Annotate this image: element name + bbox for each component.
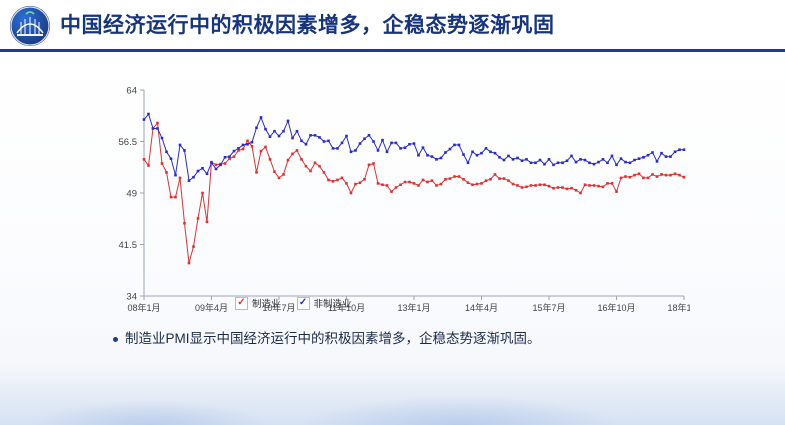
svg-text:13年1月: 13年1月 bbox=[397, 302, 430, 313]
svg-text:64: 64 bbox=[126, 86, 137, 97]
decorative-gradient bbox=[0, 365, 785, 425]
chart-legend: ✓ 制造业 ✓ 非制造业 bbox=[235, 296, 352, 310]
svg-text:16年10月: 16年10月 bbox=[597, 302, 635, 313]
bullet-row: 制造业PMI显示中国经济运行中的积极因素增多，企稳态势逐渐巩固。 bbox=[113, 330, 733, 349]
svg-text:56.5: 56.5 bbox=[119, 137, 138, 148]
svg-text:14年4月: 14年4月 bbox=[465, 302, 498, 313]
svg-text:18年1月: 18年1月 bbox=[667, 302, 690, 313]
legend-label-nonmanufacturing: 非制造业 bbox=[314, 296, 352, 310]
legend-label-manufacturing: 制造业 bbox=[252, 296, 281, 310]
svg-text:34: 34 bbox=[126, 292, 137, 303]
svg-text:49: 49 bbox=[126, 189, 137, 200]
institute-emblem-icon bbox=[10, 6, 50, 46]
page-title: 中国经济运行中的积极因素增多，企稳态势逐渐巩固 bbox=[60, 9, 555, 39]
legend-swatch-nonmanufacturing: ✓ bbox=[297, 297, 310, 310]
slide: 中国经济运行中的积极因素增多，企稳态势逐渐巩固 3441.54956.56408… bbox=[0, 0, 785, 425]
legend-swatch-manufacturing: ✓ bbox=[235, 297, 248, 310]
svg-text:08年1月: 08年1月 bbox=[127, 302, 160, 313]
bullet-dot-icon bbox=[113, 337, 118, 342]
legend-item-nonmanufacturing: ✓ 非制造业 bbox=[297, 296, 352, 310]
bullet-text: 制造业PMI显示中国经济运行中的积极因素增多，企稳态势逐渐巩固。 bbox=[125, 330, 541, 349]
slide-body: 3441.54956.56408年1月09年4月10年7月11年10月13年1月… bbox=[0, 52, 785, 425]
chart-canvas: 3441.54956.56408年1月09年4月10年7月11年10月13年1月… bbox=[100, 82, 690, 322]
svg-text:41.5: 41.5 bbox=[119, 240, 138, 251]
svg-text:15年7月: 15年7月 bbox=[532, 302, 565, 313]
pmi-line-chart: 3441.54956.56408年1月09年4月10年7月11年10月13年1月… bbox=[100, 82, 690, 322]
svg-text:09年4月: 09年4月 bbox=[195, 302, 228, 313]
legend-item-manufacturing: ✓ 制造业 bbox=[235, 296, 281, 310]
slide-header: 中国经济运行中的积极因素增多，企稳态势逐渐巩固 bbox=[0, 0, 785, 52]
